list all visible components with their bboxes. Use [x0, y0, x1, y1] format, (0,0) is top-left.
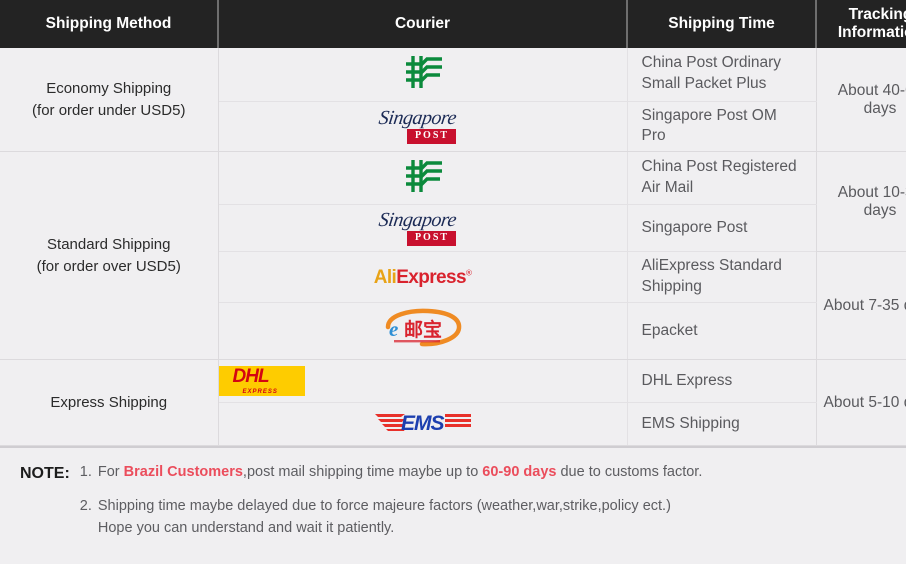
note-1-after: due to customs factor.: [556, 464, 702, 480]
svg-text:EMS: EMS: [401, 412, 445, 435]
note-2-line2: Hope you can understand and wait it pati…: [98, 518, 671, 540]
note-section: NOTE: 1. For Brazil Customers,post mail …: [0, 446, 906, 555]
header-tracking-line1: Tracking: [849, 6, 906, 23]
note-item-2-text: Shipping time maybe delayed due to force…: [98, 496, 671, 540]
note-item-1-number: 1.: [80, 462, 98, 484]
note-item-1: 1. For Brazil Customers,post mail shippi…: [80, 462, 888, 484]
dhl-subtext: EXPRESS: [243, 389, 278, 395]
singapore-post-logo: Singapore POST: [377, 108, 469, 144]
shipping-methods-table: Shipping Method Courier Shipping Time Tr…: [0, 0, 906, 446]
singapore-post-logo: Singapore POST: [377, 210, 469, 246]
note-list: 1. For Brazil Customers,post mail shippi…: [80, 462, 888, 539]
aliexpress-logo: AliExpress®: [374, 268, 472, 287]
courier-logo-cell: Singapore POST: [218, 101, 627, 152]
singapore-post-badge: POST: [407, 231, 456, 246]
dhl-logo: DHL EXPRESS: [219, 366, 305, 396]
note-1-highlight-brazil: Brazil Customers: [124, 464, 243, 480]
courier-name: AliExpress Standard Shipping: [627, 252, 816, 303]
table-row: Express Shipping DHL EXPRESS DHL Express…: [0, 360, 906, 403]
method-standard-shipping: Standard Shipping (for order over USD5): [0, 152, 218, 360]
note-label: NOTE:: [20, 462, 80, 485]
header-tracking-line2: Information: [838, 24, 906, 41]
header-courier: Courier: [218, 0, 627, 48]
china-post-logo: [400, 156, 446, 196]
singapore-post-script: Singapore: [375, 210, 470, 230]
courier-name: Singapore Post OM Pro: [627, 101, 816, 152]
method-economy-line2: (for order under USD5): [6, 100, 212, 122]
note-1-middle: ,post mail shipping time maybe up to: [243, 464, 482, 480]
singapore-post-badge: POST: [407, 129, 456, 144]
shipping-time-standard-a: About 10-35 days: [816, 152, 906, 252]
shipping-time-express: About 5-10 days: [816, 360, 906, 446]
shipping-time-economy: About 40-60 days: [816, 48, 906, 152]
note-item-2: 2. Shipping time maybe delayed due to fo…: [80, 496, 888, 540]
courier-logo-cell: e 邮宝: [218, 303, 627, 360]
table-body: Economy Shipping (for order under USD5): [0, 48, 906, 446]
method-standard-line2: (for order over USD5): [6, 256, 212, 278]
singapore-post-script: Singapore: [375, 108, 470, 128]
shipping-time-standard-b: About 7-35 days: [816, 252, 906, 360]
method-economy-shipping: Economy Shipping (for order under USD5): [0, 48, 218, 152]
method-express-line1: Express Shipping: [6, 392, 212, 414]
shipping-info-table: Shipping Method Courier Shipping Time Tr…: [0, 0, 906, 564]
table-header: Shipping Method Courier Shipping Time Tr…: [0, 0, 906, 48]
method-economy-line1: Economy Shipping: [6, 78, 212, 100]
svg-text:邮宝: 邮宝: [404, 318, 442, 341]
courier-logo-cell: [218, 48, 627, 101]
header-row: Shipping Method Courier Shipping Time Tr…: [0, 0, 906, 48]
aliexpress-part1: Ali: [374, 267, 396, 288]
dhl-wordmark: DHL: [233, 367, 269, 386]
courier-name: DHL Express: [627, 360, 816, 403]
courier-name: Epacket: [627, 303, 816, 360]
ems-logo: EMS: [375, 407, 471, 437]
method-express-shipping: Express Shipping: [0, 360, 218, 446]
note-1-before: For: [98, 464, 124, 480]
aliexpress-part2: Express: [396, 267, 466, 288]
epacket-logo: e 邮宝: [380, 307, 466, 351]
courier-logo-cell: AliExpress®: [218, 252, 627, 303]
note-item-2-number: 2.: [80, 496, 98, 540]
note-item-1-text: For Brazil Customers,post mail shipping …: [98, 462, 702, 484]
note-1-highlight-days: 60-90 days: [482, 464, 556, 480]
courier-logo-cell: Singapore POST: [218, 205, 627, 252]
note-row: NOTE: 1. For Brazil Customers,post mail …: [20, 462, 888, 539]
courier-name: Singapore Post: [627, 205, 816, 252]
china-post-logo: [400, 52, 446, 92]
table-row: Standard Shipping (for order over USD5): [0, 152, 906, 205]
table-row: Economy Shipping (for order under USD5): [0, 48, 906, 101]
courier-logo-cell: DHL EXPRESS: [218, 360, 627, 403]
courier-name: China Post Ordinary Small Packet Plus: [627, 48, 816, 101]
courier-name: China Post Registered Air Mail: [627, 152, 816, 205]
svg-text:e: e: [389, 317, 398, 341]
courier-logo-cell: [218, 152, 627, 205]
courier-name: EMS Shipping: [627, 403, 816, 446]
header-shipping-method: Shipping Method: [0, 0, 218, 48]
header-shipping-time: Shipping Time: [627, 0, 816, 48]
note-2-line1: Shipping time maybe delayed due to force…: [98, 496, 671, 518]
header-tracking-information: Tracking Information: [816, 0, 906, 48]
method-standard-line1: Standard Shipping: [6, 234, 212, 256]
courier-logo-cell: EMS: [218, 403, 627, 446]
trademark-icon: ®: [466, 268, 471, 277]
